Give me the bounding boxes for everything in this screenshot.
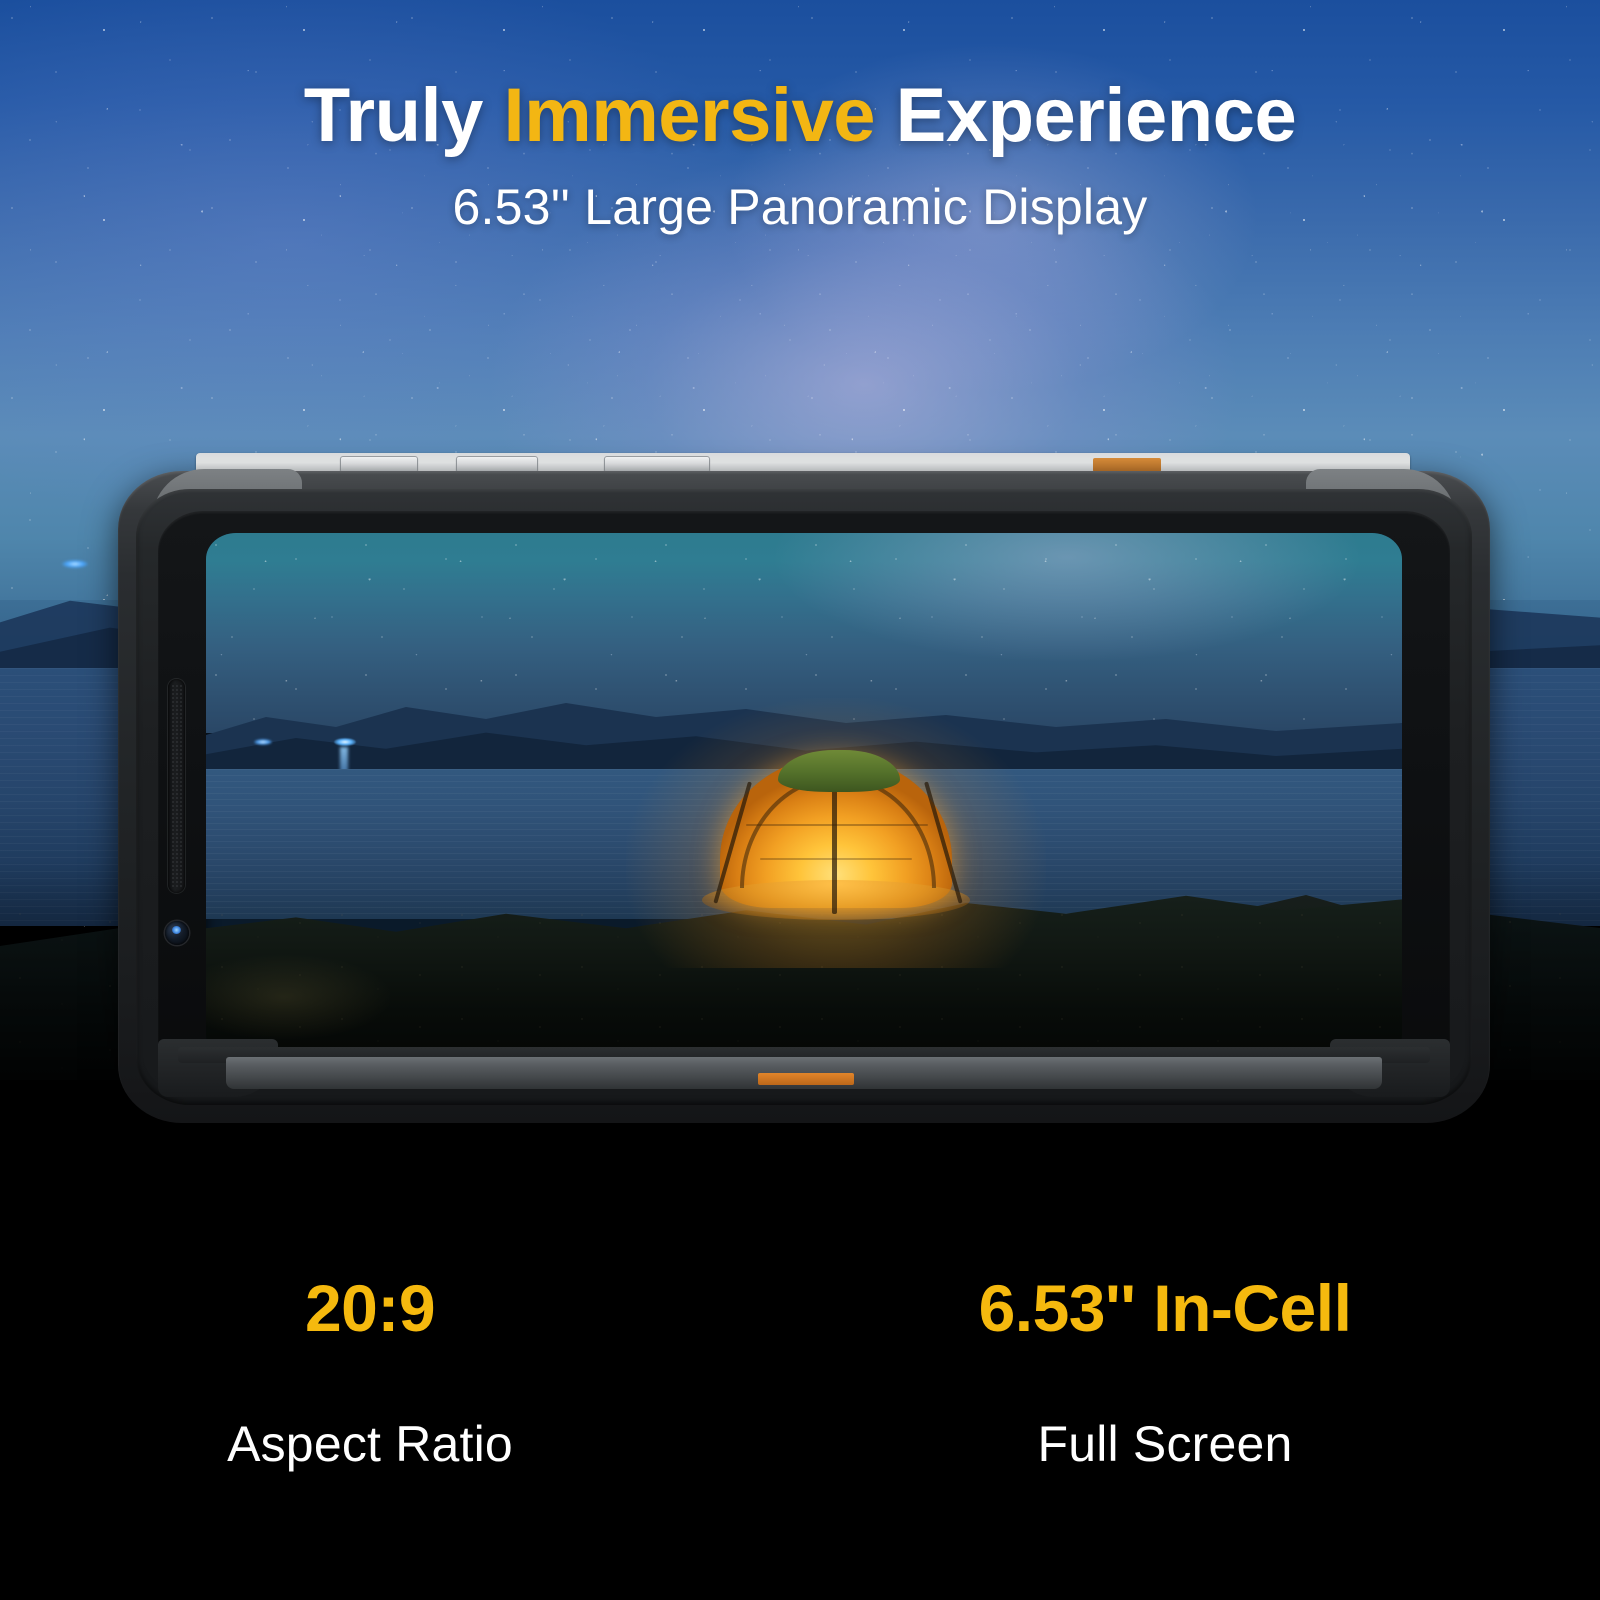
page-subheadline: 6.53'' Large Panoramic Display: [0, 178, 1600, 236]
earpiece-speaker-grille: [168, 679, 185, 893]
product-phone: [118, 443, 1490, 1133]
screen-camping-tent: [686, 728, 986, 933]
orange-accent-strip-top: [1093, 458, 1161, 472]
stat-aspect-ratio-value: 20:9: [110, 1272, 630, 1345]
page-headline: Truly Immersive Experience: [0, 72, 1600, 159]
screen-shore-light: [334, 738, 356, 746]
marketing-banner: Truly Immersive Experience 6.53'' Large …: [0, 0, 1600, 1600]
feature-stats: 20:9 Aspect Ratio 6.53'' In-Cell Full Sc…: [0, 1272, 1600, 1562]
tent-seam-upper: [746, 824, 928, 826]
orange-accent-strip-bottom: [758, 1073, 854, 1085]
stat-aspect-ratio: 20:9 Aspect Ratio: [110, 1272, 630, 1473]
headline-text-trailing: Experience: [875, 73, 1296, 158]
speaker-grille-dots: [171, 684, 182, 888]
headline-text-leading: Truly: [304, 73, 504, 158]
stat-full-screen: 6.53'' In-Cell Full Screen: [905, 1272, 1425, 1473]
stat-full-screen-label: Full Screen: [905, 1415, 1425, 1473]
background-shore-light: [62, 560, 88, 568]
front-camera-highlight: [172, 926, 181, 934]
screen-distant-light: [254, 739, 272, 745]
stat-full-screen-value: 6.53'' In-Cell: [905, 1272, 1425, 1345]
phone-display-screen[interactable]: [206, 533, 1402, 1061]
stat-aspect-ratio-label: Aspect Ratio: [110, 1415, 630, 1473]
headline-text-highlight: Immersive: [504, 73, 876, 158]
